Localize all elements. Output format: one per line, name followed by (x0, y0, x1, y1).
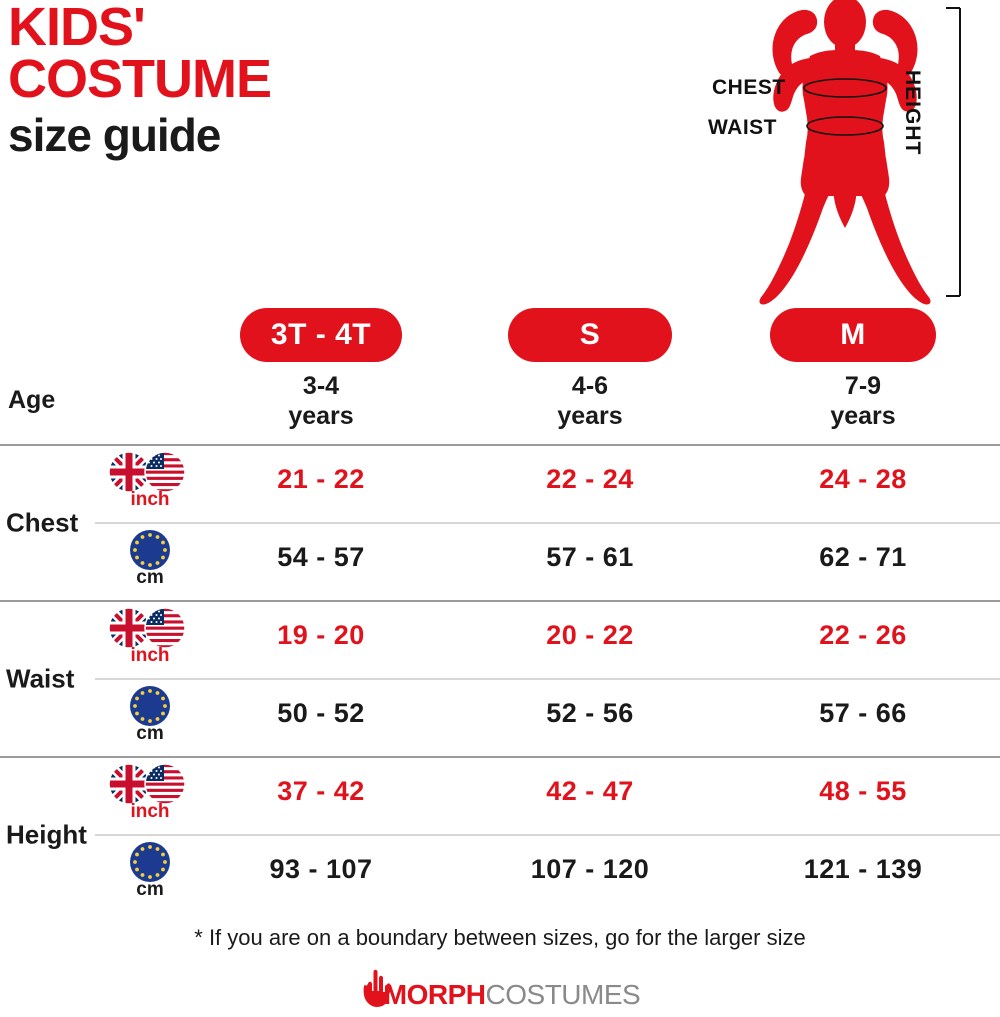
age-value-m: 7-9 years (763, 372, 963, 431)
height-cm-3t-4t: 93 - 107 (221, 854, 421, 885)
flexing-body-silhouette-icon (690, 0, 1000, 310)
size-pill-3t-4t[interactable]: 3T - 4T (240, 308, 402, 362)
unit-cell-cm: cm (95, 524, 205, 600)
waist-inch-3t-4t: 19 - 20 (221, 620, 421, 651)
table-header-row: 3T - 4T S M Age 3-4 years 4-6 years 7-9 … (0, 298, 1000, 444)
height-inch-m: 48 - 55 (763, 776, 963, 807)
waist-cm-s: 52 - 56 (490, 698, 690, 729)
logo-text-morph: MORPH (384, 979, 486, 1011)
eu-flag-icon (95, 528, 205, 572)
size-table: 3T - 4T S M Age 3-4 years 4-6 years 7-9 … (0, 298, 1000, 912)
chest-inch-3t-4t: 21 - 22 (221, 464, 421, 495)
unit-cell-inch: inch (95, 446, 205, 522)
chest-cm-m: 62 - 71 (763, 542, 963, 573)
age-value-s: 4-6 years (490, 372, 690, 431)
height-inch-3t-4t: 37 - 42 (221, 776, 421, 807)
waist-diagram-label: WAIST (708, 116, 777, 140)
height-metric-subrow: cm 93 - 107 107 - 120 121 - 139 (0, 836, 1000, 912)
unit-label-inch: inch (95, 802, 205, 821)
chest-cm-s: 57 - 61 (490, 542, 690, 573)
size-guide-page: KIDS' COSTUME size guide (0, 0, 1000, 1011)
waist-cm-m: 57 - 66 (763, 698, 963, 729)
unit-label-cm: cm (95, 880, 205, 899)
waist-cm-3t-4t: 50 - 52 (221, 698, 421, 729)
chest-cm-3t-4t: 54 - 57 (221, 542, 421, 573)
unit-label-cm: cm (95, 724, 205, 743)
chest-inch-m: 24 - 28 (763, 464, 963, 495)
height-bracket (946, 8, 960, 296)
height-diagram-label: HEIGHT (900, 70, 924, 155)
unit-label-cm: cm (95, 568, 205, 587)
waist-inch-m: 22 - 26 (763, 620, 963, 651)
title-line-1: KIDS' (8, 2, 478, 54)
rock-hand-icon (360, 968, 394, 1013)
boundary-note: * If you are on a boundary between sizes… (0, 925, 1000, 951)
uk-us-flags-icon (95, 450, 205, 494)
unit-cell-cm: cm (95, 680, 205, 756)
height-imperial-subrow: inch 37 - 42 42 - 47 48 - 55 (0, 758, 1000, 834)
page-title: KIDS' COSTUME size guide (8, 2, 478, 158)
unit-cell-cm: cm (95, 836, 205, 912)
table-row-height: Height (0, 758, 1000, 912)
page-subtitle: size guide (8, 112, 478, 158)
age-value-3t-4t: 3-4 years (221, 372, 421, 431)
table-row-chest: Chest (0, 446, 1000, 600)
row-label-age: Age (8, 386, 55, 415)
chest-metric-subrow: cm 54 - 57 57 - 61 62 - 71 (0, 524, 1000, 600)
eu-flag-icon (95, 684, 205, 728)
size-pill-s[interactable]: S (508, 308, 672, 362)
waist-imperial-subrow: inch 19 - 20 20 - 22 22 - 26 (0, 602, 1000, 678)
unit-cell-inch: inch (95, 758, 205, 834)
waist-metric-subrow: cm 50 - 52 52 - 56 57 - 66 (0, 680, 1000, 756)
height-cm-m: 121 - 139 (763, 854, 963, 885)
eu-flag-icon (95, 840, 205, 884)
unit-cell-inch: inch (95, 602, 205, 678)
brand-logo[interactable]: MORPH COSTUMES (0, 972, 1000, 1017)
unit-label-inch: inch (95, 646, 205, 665)
size-pill-m[interactable]: M (770, 308, 936, 362)
height-inch-s: 42 - 47 (490, 776, 690, 807)
unit-label-inch: inch (95, 490, 205, 509)
uk-us-flags-icon (95, 606, 205, 650)
chest-diagram-label: CHEST (712, 76, 786, 100)
height-cm-s: 107 - 120 (490, 854, 690, 885)
title-line-2: COSTUME (8, 54, 478, 106)
table-row-waist: Waist (0, 602, 1000, 756)
measurement-diagram: CHEST WAIST HEIGHT (690, 0, 1000, 310)
uk-us-flags-icon (95, 762, 205, 806)
chest-imperial-subrow: inch 21 - 22 22 - 24 24 - 28 (0, 446, 1000, 522)
waist-inch-s: 20 - 22 (490, 620, 690, 651)
logo-text-costumes: COSTUMES (486, 979, 641, 1011)
chest-inch-s: 22 - 24 (490, 464, 690, 495)
